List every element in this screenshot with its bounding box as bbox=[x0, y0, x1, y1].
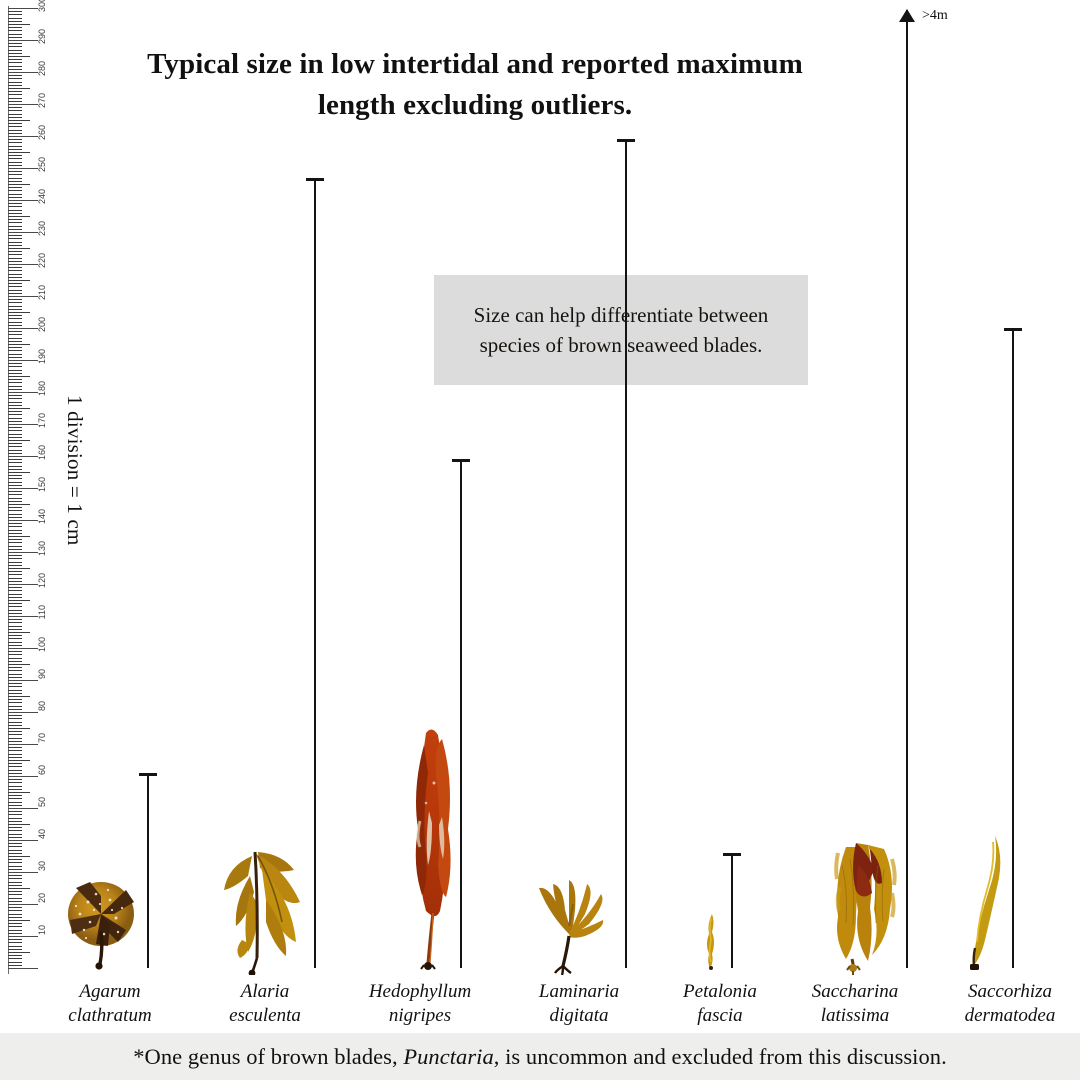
ruler-tick bbox=[8, 645, 22, 646]
ruler-tick bbox=[8, 168, 38, 169]
ruler-tick bbox=[8, 395, 22, 396]
ruler-tick bbox=[8, 354, 22, 355]
ruler-tick bbox=[8, 808, 38, 809]
measurement-line-petalonia bbox=[731, 853, 733, 968]
ruler-tick bbox=[8, 782, 22, 783]
ruler-tick bbox=[8, 389, 22, 390]
ruler-tick bbox=[8, 133, 22, 134]
ruler-tick bbox=[8, 427, 22, 428]
ruler-tick bbox=[8, 50, 22, 51]
measurement-cap bbox=[617, 139, 635, 142]
ruler-tick bbox=[8, 792, 30, 793]
ruler-tick bbox=[8, 686, 22, 687]
ruler-tick bbox=[8, 546, 22, 547]
ruler-tick bbox=[8, 162, 22, 163]
ruler-tick bbox=[8, 584, 38, 585]
measurement-cap bbox=[1004, 328, 1022, 331]
ruler-tick bbox=[8, 699, 22, 700]
ruler-tick bbox=[8, 827, 22, 828]
ruler-tick bbox=[8, 526, 22, 527]
ruler-tick bbox=[8, 117, 22, 118]
ruler-tick bbox=[8, 581, 22, 582]
ruler-tick bbox=[8, 382, 22, 383]
ruler-label: 210 bbox=[38, 285, 47, 300]
ruler-tick bbox=[8, 744, 38, 745]
ruler-tick bbox=[8, 440, 30, 441]
ruler-tick bbox=[8, 347, 22, 348]
ruler-tick bbox=[8, 638, 22, 639]
ruler-tick bbox=[8, 315, 22, 316]
ruler-label: 110 bbox=[38, 605, 47, 619]
species-genus: Laminaria bbox=[505, 980, 653, 1004]
ruler-tick bbox=[8, 245, 22, 246]
ruler-tick bbox=[8, 795, 22, 796]
ruler-tick bbox=[8, 619, 22, 620]
ruler-tick bbox=[8, 171, 22, 172]
ruler-tick bbox=[8, 104, 38, 105]
ruler-tick bbox=[8, 126, 22, 127]
ruler-tick bbox=[8, 142, 22, 143]
ruler-label: 280 bbox=[38, 61, 47, 76]
footnote-italic-genus: Punctaria bbox=[403, 1044, 493, 1069]
ruler-tick bbox=[8, 683, 22, 684]
ruler-label: 260 bbox=[38, 125, 47, 140]
ruler-tick bbox=[8, 88, 30, 89]
footnote-bar: *One genus of brown blades, Punctaria, i… bbox=[0, 1033, 1080, 1080]
ruler-tick bbox=[8, 523, 22, 524]
ruler-tick bbox=[8, 306, 22, 307]
ruler-tick bbox=[8, 443, 22, 444]
species-epithet: digitata bbox=[505, 1004, 653, 1028]
measurement-cap bbox=[306, 178, 324, 181]
ruler-tick bbox=[8, 437, 22, 438]
ruler-tick bbox=[8, 587, 22, 588]
measurement-line-saccharina bbox=[906, 10, 908, 968]
ruler-tick bbox=[8, 485, 22, 486]
ruler-tick bbox=[8, 453, 22, 454]
ruler-scale: 1020304050607080901001101201301401501601… bbox=[8, 6, 54, 974]
ruler-tick bbox=[8, 78, 22, 79]
ruler-tick bbox=[8, 459, 22, 460]
ruler-tick bbox=[8, 869, 22, 870]
ruler-label: 80 bbox=[38, 701, 47, 711]
species-label-alaria: Alariaesculenta bbox=[200, 980, 330, 1028]
ruler-tick bbox=[8, 718, 22, 719]
ruler-tick bbox=[8, 968, 38, 969]
ruler-tick bbox=[8, 411, 22, 412]
ruler-tick bbox=[8, 421, 22, 422]
ruler-tick bbox=[8, 574, 22, 575]
ruler-tick bbox=[8, 299, 22, 300]
measurement-cap bbox=[452, 459, 470, 462]
ruler-tick bbox=[8, 824, 30, 825]
ruler-tick bbox=[8, 194, 22, 195]
ruler-tick bbox=[8, 510, 22, 511]
ruler-tick bbox=[8, 366, 22, 367]
specimen-photo-saccorhiza bbox=[955, 832, 1009, 972]
ruler-tick bbox=[8, 56, 30, 57]
measurement-cap bbox=[723, 853, 741, 856]
ruler-tick bbox=[8, 533, 22, 534]
ruler-tick bbox=[8, 597, 22, 598]
ruler-tick bbox=[8, 293, 22, 294]
ruler-tick bbox=[8, 75, 22, 76]
ruler-tick bbox=[8, 558, 22, 559]
ruler-tick bbox=[8, 264, 38, 265]
ruler-tick bbox=[8, 616, 38, 617]
footnote-before: *One genus of brown blades, bbox=[133, 1044, 403, 1069]
species-epithet: dermatodea bbox=[930, 1004, 1080, 1028]
ruler-tick bbox=[8, 741, 22, 742]
measurement-line-agarum bbox=[147, 773, 149, 968]
ruler-tick bbox=[8, 862, 22, 863]
ruler-label: 90 bbox=[38, 669, 47, 679]
ruler-tick bbox=[8, 923, 22, 924]
ruler-tick bbox=[8, 670, 22, 671]
ruler-tick bbox=[8, 664, 30, 665]
measurement-stem bbox=[625, 139, 627, 968]
ruler-tick bbox=[8, 635, 22, 636]
ruler-tick bbox=[8, 376, 30, 377]
ruler-tick bbox=[8, 722, 22, 723]
ruler-tick bbox=[8, 958, 22, 959]
ruler-tick bbox=[8, 571, 22, 572]
ruler-tick bbox=[8, 542, 22, 543]
ruler-tick bbox=[8, 478, 22, 479]
ruler-tick bbox=[8, 709, 22, 710]
species-label-agarum: Agarumclathratum bbox=[36, 980, 184, 1028]
ruler-tick bbox=[8, 107, 22, 108]
species-genus: Petalonia bbox=[650, 980, 790, 1004]
ruler-tick bbox=[8, 629, 22, 630]
ruler-tick bbox=[8, 462, 22, 463]
ruler-tick bbox=[8, 123, 22, 124]
ruler-tick bbox=[8, 210, 22, 211]
ruler-tick bbox=[8, 904, 38, 905]
ruler-tick bbox=[8, 219, 22, 220]
ruler-tick bbox=[8, 203, 22, 204]
ruler-tick bbox=[8, 731, 22, 732]
ruler-tick bbox=[8, 229, 22, 230]
ruler-tick bbox=[8, 296, 38, 297]
ruler-tick bbox=[8, 955, 22, 956]
footnote-text: *One genus of brown blades, Punctaria, i… bbox=[133, 1044, 947, 1070]
ruler-tick bbox=[8, 885, 22, 886]
ruler-tick bbox=[8, 728, 30, 729]
ruler-tick bbox=[8, 590, 22, 591]
species-genus: Hedophyllum bbox=[345, 980, 495, 1004]
ruler-tick bbox=[8, 878, 22, 879]
ruler-tick bbox=[8, 357, 22, 358]
ruler-tick bbox=[8, 856, 30, 857]
callout-box: Size can help differentiate between spec… bbox=[434, 275, 808, 385]
ruler-tick bbox=[8, 491, 22, 492]
ruler-tick bbox=[8, 770, 22, 771]
ruler-tick bbox=[8, 120, 30, 121]
ruler-tick bbox=[8, 750, 22, 751]
ruler-tick bbox=[8, 632, 30, 633]
ruler-tick bbox=[8, 517, 22, 518]
measurement-stem bbox=[314, 178, 316, 968]
ruler-tick bbox=[8, 165, 22, 166]
species-label-hedophyllum: Hedophyllumnigripes bbox=[345, 980, 495, 1028]
ruler-tick bbox=[8, 610, 22, 611]
ruler-tick bbox=[8, 21, 22, 22]
infographic-canvas: 1020304050607080901001101201301401501601… bbox=[0, 0, 1080, 1080]
ruler-tick bbox=[8, 667, 22, 668]
ruler-tick bbox=[8, 488, 38, 489]
ruler-tick bbox=[8, 747, 22, 748]
specimen-photo-agarum bbox=[56, 872, 146, 972]
ruler-tick bbox=[8, 805, 22, 806]
ruler-tick bbox=[8, 814, 22, 815]
ruler-tick bbox=[8, 725, 22, 726]
ruler-tick bbox=[8, 872, 38, 873]
ruler-tick bbox=[8, 930, 22, 931]
ruler-tick bbox=[8, 504, 30, 505]
ruler-tick bbox=[8, 875, 22, 876]
ruler-tick bbox=[8, 59, 22, 60]
ruler-tick bbox=[8, 232, 38, 233]
ruler-tick bbox=[8, 754, 22, 755]
ruler-tick bbox=[8, 766, 22, 767]
ruler-tick bbox=[8, 680, 38, 681]
ruler-tick bbox=[8, 62, 22, 63]
ruler-tick bbox=[8, 802, 22, 803]
specimen-photo-laminaria bbox=[519, 870, 619, 975]
ruler-tick bbox=[8, 520, 38, 521]
ruler-tick bbox=[8, 914, 22, 915]
ruler-tick bbox=[8, 946, 22, 947]
ruler-tick bbox=[8, 651, 22, 652]
ruler-tick bbox=[8, 82, 22, 83]
ruler-tick bbox=[8, 331, 22, 332]
species-label-saccharina: Saccharinalatissima bbox=[785, 980, 925, 1028]
specimen-photo-alaria bbox=[208, 830, 316, 975]
ruler-tick bbox=[8, 72, 38, 73]
specimen-photo-hedophyllum bbox=[396, 725, 474, 975]
ruler-label: 50 bbox=[38, 797, 47, 807]
ruler-tick bbox=[8, 280, 30, 281]
species-label-petalonia: Petaloniafascia bbox=[650, 980, 790, 1028]
ruler-tick bbox=[8, 837, 22, 838]
ruler-tick bbox=[8, 613, 22, 614]
ruler-tick bbox=[8, 536, 30, 537]
ruler-tick bbox=[8, 261, 22, 262]
ruler-label: 300 bbox=[38, 0, 47, 12]
ruler-tick bbox=[8, 757, 22, 758]
ruler-tick bbox=[8, 213, 22, 214]
ruler-label: 270 bbox=[38, 93, 47, 108]
ruler-tick bbox=[8, 402, 22, 403]
ruler-tick bbox=[8, 238, 22, 239]
ruler-label: 170 bbox=[38, 413, 47, 428]
ruler-tick bbox=[8, 882, 22, 883]
ruler-tick bbox=[8, 152, 30, 153]
ruler-tick bbox=[8, 149, 22, 150]
ruler-tick bbox=[8, 763, 22, 764]
ruler-label: 160 bbox=[38, 445, 47, 460]
ruler-tick bbox=[8, 270, 22, 271]
ruler-tick bbox=[8, 146, 22, 147]
ruler-tick bbox=[8, 322, 22, 323]
ruler-tick bbox=[8, 398, 22, 399]
ruler-tick bbox=[8, 891, 22, 892]
axis-caption: 1 division = 1 cm bbox=[62, 395, 87, 546]
ruler-tick bbox=[8, 18, 22, 19]
ruler-tick bbox=[8, 325, 22, 326]
ruler-tick bbox=[8, 562, 22, 563]
ruler-tick bbox=[8, 706, 22, 707]
ruler-tick bbox=[8, 37, 22, 38]
ruler-tick bbox=[8, 200, 38, 201]
ruler-tick bbox=[8, 181, 22, 182]
ruler-label: 130 bbox=[38, 541, 47, 556]
ruler-tick bbox=[8, 338, 22, 339]
ruler-label: 230 bbox=[38, 221, 47, 236]
ruler-tick bbox=[8, 494, 22, 495]
species-genus: Saccharina bbox=[785, 980, 925, 1004]
ruler-tick bbox=[8, 760, 30, 761]
ruler-tick bbox=[8, 248, 30, 249]
ruler-tick bbox=[8, 939, 22, 940]
ruler-tick bbox=[8, 498, 22, 499]
measurement-cap bbox=[139, 773, 157, 776]
ruler-tick bbox=[8, 110, 22, 111]
ruler-tick bbox=[8, 302, 22, 303]
ruler-tick bbox=[8, 779, 22, 780]
ruler-tick bbox=[8, 14, 22, 15]
ruler-tick bbox=[8, 386, 22, 387]
ruler-tick bbox=[8, 677, 22, 678]
ruler-tick bbox=[8, 11, 22, 12]
measurement-stem bbox=[460, 459, 462, 968]
ruler-tick bbox=[8, 898, 22, 899]
ruler-tick bbox=[8, 853, 22, 854]
ruler-tick bbox=[8, 568, 30, 569]
ruler-tick bbox=[8, 283, 22, 284]
ruler-tick bbox=[8, 648, 38, 649]
ruler-tick bbox=[8, 226, 22, 227]
ruler-tick bbox=[8, 155, 22, 156]
ruler-tick bbox=[8, 379, 22, 380]
ruler-tick bbox=[8, 850, 22, 851]
ruler-tick bbox=[8, 34, 22, 35]
ruler-tick bbox=[8, 222, 22, 223]
measurement-line-alaria bbox=[314, 178, 316, 968]
ruler-tick bbox=[8, 8, 38, 9]
ruler-tick bbox=[8, 926, 22, 927]
species-genus: Alaria bbox=[200, 980, 330, 1004]
species-epithet: fascia bbox=[650, 1004, 790, 1028]
ruler-tick bbox=[8, 693, 22, 694]
measurement-stem bbox=[1012, 328, 1014, 968]
measurement-stem bbox=[731, 853, 733, 968]
ruler-tick bbox=[8, 920, 30, 921]
ruler-tick bbox=[8, 514, 22, 515]
ruler-tick bbox=[8, 818, 22, 819]
ruler-tick bbox=[8, 811, 22, 812]
ruler-label: 60 bbox=[38, 765, 47, 775]
ruler-tick bbox=[8, 360, 38, 361]
ruler-tick bbox=[8, 830, 22, 831]
ruler-tick bbox=[8, 507, 22, 508]
ruler-label: 200 bbox=[38, 317, 47, 332]
ruler-tick bbox=[8, 965, 22, 966]
ruler-label: 150 bbox=[38, 477, 47, 492]
ruler-label: 290 bbox=[38, 29, 47, 44]
ruler-tick bbox=[8, 46, 22, 47]
ruler-label: 100 bbox=[38, 637, 47, 652]
ruler-tick bbox=[8, 482, 22, 483]
ruler-tick bbox=[8, 933, 22, 934]
ruler-tick bbox=[8, 952, 30, 953]
measurement-line-hedophyllum bbox=[460, 459, 462, 968]
ruler-tick bbox=[8, 539, 22, 540]
ruler-label: 40 bbox=[38, 829, 47, 839]
ruler-tick bbox=[8, 312, 30, 313]
ruler-tick bbox=[8, 446, 22, 447]
ruler-tick bbox=[8, 894, 22, 895]
species-label-saccorhiza: Saccorhizadermatodea bbox=[930, 980, 1080, 1028]
measurement-line-laminaria bbox=[625, 139, 627, 968]
ruler-label: 180 bbox=[38, 381, 47, 396]
species-epithet: latissima bbox=[785, 1004, 925, 1028]
ruler-tick bbox=[8, 603, 22, 604]
ruler-tick bbox=[8, 642, 22, 643]
ruler-tick bbox=[8, 114, 22, 115]
ruler-tick bbox=[8, 328, 38, 329]
ruler-tick bbox=[8, 738, 22, 739]
ruler-tick bbox=[8, 469, 22, 470]
callout-text: Size can help differentiate between spec… bbox=[434, 300, 808, 361]
ruler-tick bbox=[8, 190, 22, 191]
ruler-tick bbox=[8, 94, 22, 95]
ruler-tick bbox=[8, 901, 22, 902]
ruler-tick bbox=[8, 341, 22, 342]
ruler-tick bbox=[8, 600, 30, 601]
ruler-tick bbox=[8, 475, 22, 476]
arrow-up-icon bbox=[899, 9, 915, 22]
ruler-tick bbox=[8, 843, 22, 844]
ruler-label: 30 bbox=[38, 861, 47, 871]
ruler-tick bbox=[8, 626, 22, 627]
ruler-tick bbox=[8, 549, 22, 550]
ruler-label: 190 bbox=[38, 349, 47, 364]
ruler-tick bbox=[8, 501, 22, 502]
ruler-label: 250 bbox=[38, 157, 47, 172]
ruler-tick bbox=[8, 789, 22, 790]
ruler-tick bbox=[8, 392, 38, 393]
ruler-tick bbox=[8, 277, 22, 278]
ruler-tick bbox=[8, 776, 38, 777]
ruler-tick bbox=[8, 258, 22, 259]
ruler-tick bbox=[8, 344, 30, 345]
ruler-tick bbox=[8, 821, 22, 822]
ruler-tick bbox=[8, 942, 22, 943]
ruler-tick bbox=[8, 274, 22, 275]
ruler-tick bbox=[8, 30, 22, 31]
page-title: Typical size in low intertidal and repor… bbox=[110, 44, 840, 126]
ruler-tick bbox=[8, 702, 22, 703]
ruler-tick bbox=[8, 334, 22, 335]
measurement-line-saccorhiza bbox=[1012, 328, 1014, 968]
ruler-tick bbox=[8, 936, 38, 937]
species-label-laminaria: Laminariadigitata bbox=[505, 980, 653, 1028]
ruler-tick bbox=[8, 786, 22, 787]
measurement-stem bbox=[147, 773, 149, 968]
species-epithet: esculenta bbox=[200, 1004, 330, 1028]
